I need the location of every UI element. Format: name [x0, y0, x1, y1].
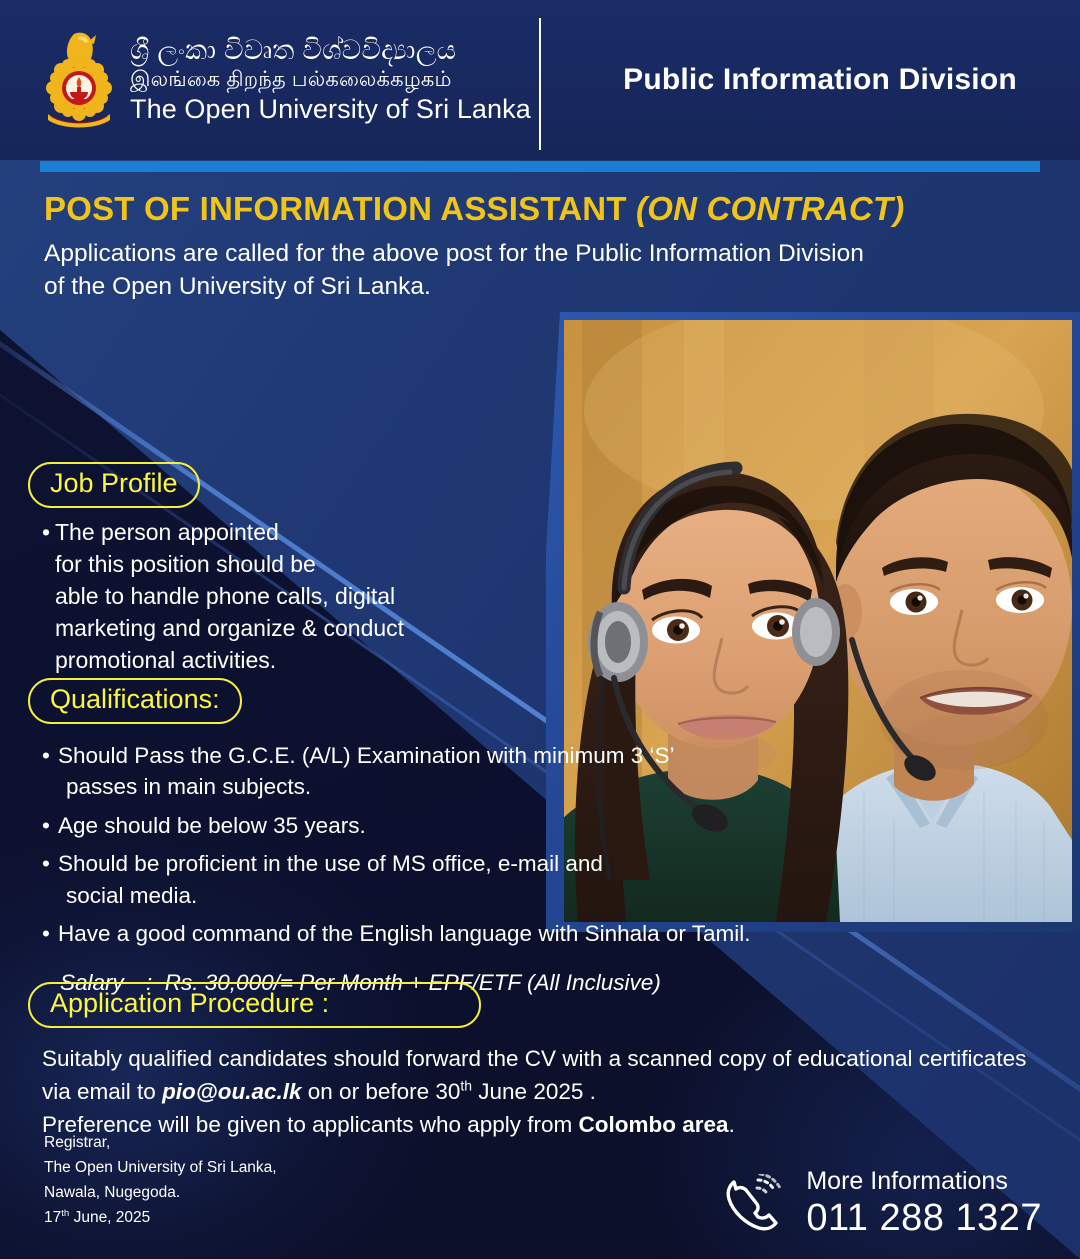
- qualification-2-line1: Should be proficient in the use of MS of…: [58, 851, 603, 876]
- registrar-date-day: 17: [44, 1209, 61, 1226]
- qualification-0-line2: passes in main subjects.: [58, 771, 675, 803]
- bullet-icon: •: [42, 517, 55, 549]
- registrar-block: Registrar, The Open University of Sri La…: [44, 1130, 277, 1230]
- poster-header: ශ්‍රී ලංකා විවෘත විශ්වවිද්‍යාලය இலங்கை த…: [0, 0, 1080, 160]
- ap-preference-after: .: [729, 1112, 735, 1137]
- header-accent-bar: [40, 161, 1040, 172]
- university-name-tamil: இலங்கை திறந்த பல்கலைக்கழகம்: [130, 67, 531, 92]
- post-title-main: POST OF INFORMATION ASSISTANT: [44, 190, 636, 227]
- job-profile-heading: Job Profile: [28, 462, 200, 508]
- job-profile-line-4: promotional activities.: [55, 645, 404, 677]
- application-email[interactable]: pio@ou.ac.lk: [162, 1079, 301, 1104]
- qualification-0-line1: Should Pass the G.C.E. (A/L) Examination…: [58, 743, 675, 768]
- list-item: • Age should be below 35 years.: [42, 810, 751, 842]
- header-divider: [539, 18, 541, 150]
- ap-text-after-email-b: June 2025 .: [472, 1079, 596, 1104]
- qualification-1-line1: Age should be below 35 years.: [58, 813, 366, 838]
- bullet-icon: •: [42, 848, 54, 911]
- job-profile-section: Job Profile •The person appointed for th…: [28, 462, 404, 677]
- registrar-address: Nawala, Nugegoda.: [44, 1180, 277, 1205]
- qualifications-list: • Should Pass the G.C.E. (A/L) Examinati…: [42, 740, 751, 999]
- bullet-icon: •: [42, 740, 54, 803]
- job-profile-line-1: for this position should be: [55, 549, 404, 581]
- contact-text: More Informations 011 288 1327: [806, 1167, 1042, 1241]
- contact-block: More Informations 011 288 1327: [722, 1167, 1042, 1241]
- qualifications-heading: Qualifications:: [28, 678, 242, 724]
- registrar-date: 17th June, 2025: [44, 1205, 277, 1230]
- ap-text-after-email-a: on or before 30: [302, 1079, 461, 1104]
- contact-phone-number[interactable]: 011 288 1327: [806, 1196, 1042, 1241]
- post-title: POST OF INFORMATION ASSISTANT (ON CONTRA…: [44, 190, 1054, 229]
- open-university-crest-icon: [42, 30, 116, 130]
- registrar-date-rest: June, 2025: [69, 1209, 150, 1226]
- qualification-text: Have a good command of the English langu…: [58, 918, 751, 950]
- bullet-icon: •: [42, 918, 54, 950]
- bullet-icon: •: [42, 810, 54, 842]
- qualification-text: Should Pass the G.C.E. (A/L) Examination…: [58, 740, 675, 803]
- qualification-2-line2: social media.: [58, 880, 603, 912]
- list-item: •The person appointed: [42, 517, 404, 549]
- application-procedure-text: Suitably qualified candidates should for…: [42, 1042, 1052, 1142]
- job-profile-line-2: able to handle phone calls, digital: [55, 581, 404, 613]
- list-item: • Have a good command of the English lan…: [42, 918, 751, 950]
- ap-date-ordinal: th: [460, 1078, 472, 1094]
- qualification-text: Age should be below 35 years.: [58, 810, 366, 842]
- qualification-3-line1: Have a good command of the English langu…: [58, 921, 751, 946]
- university-names: ශ්‍රී ලංකා විවෘත විශ්වවිද්‍යාලය இலங்கை த…: [130, 35, 531, 125]
- phone-call-icon: [722, 1174, 786, 1234]
- application-paragraph-1: Suitably qualified candidates should for…: [42, 1042, 1052, 1109]
- post-subtitle-line1: Applications are called for the above po…: [44, 238, 1024, 271]
- more-information-label: More Informations: [806, 1167, 1042, 1196]
- ap-preference-location: Colombo area: [579, 1112, 729, 1137]
- application-procedure-heading: Application Procedure :: [28, 982, 481, 1028]
- list-item: • Should Pass the G.C.E. (A/L) Examinati…: [42, 740, 751, 803]
- registrar-title: Registrar,: [44, 1130, 277, 1155]
- qualification-text: Should be proficient in the use of MS of…: [58, 848, 603, 911]
- job-profile-line-0: The person appointed: [55, 517, 279, 549]
- job-profile-list: •The person appointed for this position …: [42, 517, 404, 677]
- post-subtitle-line2: of the Open University of Sri Lanka.: [44, 271, 1024, 304]
- registrar-university: The Open University of Sri Lanka,: [44, 1155, 277, 1180]
- division-title: Public Information Division: [560, 0, 1080, 160]
- post-subtitle: Applications are called for the above po…: [44, 238, 1024, 303]
- list-item: • Should be proficient in the use of MS …: [42, 848, 751, 911]
- job-profile-line-3: marketing and organize & conduct: [55, 613, 404, 645]
- application-procedure-section: Application Procedure : Suitably qualifi…: [28, 982, 1052, 1142]
- university-name-sinhala: ශ්‍රී ලංකා විවෘත විශ්වවිද්‍යාලය: [130, 35, 531, 66]
- university-name-english: The Open University of Sri Lanka: [130, 93, 531, 125]
- job-advertisement-poster: ශ්‍රී ලංකා විවෘත විශ්වවිද්‍යාලය இலங்கை த…: [0, 0, 1080, 1259]
- post-title-contract: (ON CONTRACT): [636, 190, 904, 227]
- qualifications-section: Qualifications: • Should Pass the G.C.E.…: [28, 678, 751, 998]
- university-logo-block: ශ්‍රී ලංකා විවෘත විශ්වවිද්‍යාලය இலங்கை த…: [42, 30, 531, 130]
- title-area: POST OF INFORMATION ASSISTANT (ON CONTRA…: [44, 190, 1054, 303]
